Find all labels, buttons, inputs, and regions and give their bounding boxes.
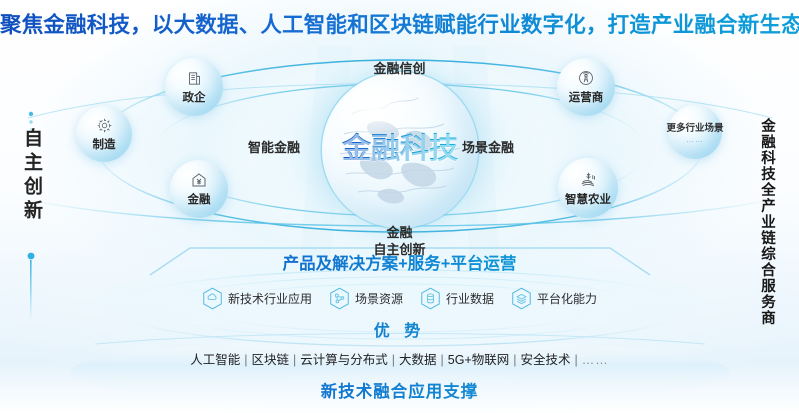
- center-label-top: 金融信创: [0, 58, 799, 77]
- tech-item: 云计算与分布式: [300, 353, 388, 367]
- bubble-more-industries[interactable]: 更多行业场景 ……: [668, 105, 722, 159]
- bubble-label: 运营商: [569, 89, 604, 105]
- advantage-label: 平台化能力: [537, 290, 597, 307]
- separator: |: [437, 353, 448, 367]
- bubble-telecom-operator[interactable]: 运营商: [557, 58, 615, 116]
- separator: |: [240, 353, 251, 367]
- tech-stack-list: 人工智能|区块链|云计算与分布式|大数据|5G+物联网|安全技术|……: [0, 349, 799, 368]
- left-vertical-label: 自主创新: [18, 128, 45, 224]
- bubble-label: 更多行业场景: [667, 123, 724, 134]
- advantage-item[interactable]: 行业数据: [420, 287, 494, 310]
- advantage-label: 场景资源: [355, 290, 403, 307]
- separator: |: [571, 353, 582, 367]
- tech-item: 区块链: [251, 353, 289, 367]
- smart-agriculture-icon: [579, 170, 598, 189]
- bubble-smart-agriculture[interactable]: 智慧农业: [558, 158, 618, 218]
- offering-banner: 产品及解决方案+服务+平台运营: [0, 250, 799, 274]
- signal-tower-icon: [577, 69, 595, 87]
- database-icon: [420, 287, 441, 310]
- center-label-left: 智能金融: [248, 137, 300, 156]
- gear-icon: [96, 117, 113, 134]
- cloud-icon: [202, 287, 223, 310]
- bubble-label: 智慧农业: [565, 191, 611, 207]
- bubble-label: 金融: [188, 191, 211, 207]
- advantage-item[interactable]: 场景资源: [329, 287, 403, 310]
- bubble-ellipsis: ……: [686, 135, 704, 144]
- building-icon: [186, 70, 203, 87]
- advantage-label: 行业数据: [446, 290, 494, 307]
- separator: |: [388, 353, 399, 367]
- center-keyword: 金融科技: [318, 125, 482, 167]
- advantages-row: 新技术行业应用 场景资源: [0, 287, 799, 310]
- bubble-manufacturing[interactable]: 制造: [76, 106, 132, 162]
- infographic-canvas: 聚焦金融科技，以大数据、人工智能和区块链赋能行业数字化，打造产业融合新生态 自主…: [0, 0, 799, 413]
- bank-yen-icon: [190, 171, 208, 189]
- bubble-government-enterprise[interactable]: 政企: [165, 58, 223, 116]
- bubble-label: 制造: [93, 136, 116, 152]
- layers-icon: [511, 287, 532, 310]
- advantages-title: 优 势: [0, 317, 799, 341]
- tech-support-title: 新技术融合应用支撑: [0, 378, 799, 402]
- separator: |: [289, 353, 300, 367]
- tech-ellipsis: ……: [582, 353, 609, 367]
- center-label-right: 场景金融: [462, 137, 514, 156]
- bubble-label: 政企: [183, 89, 206, 105]
- separator: |: [509, 353, 520, 367]
- tech-item: 5G+物联网: [448, 353, 509, 367]
- tech-item: 大数据: [399, 353, 437, 367]
- advantage-label: 新技术行业应用: [228, 290, 312, 307]
- page-title: 聚焦金融科技，以大数据、人工智能和区块链赋能行业数字化，打造产业融合新生态: [0, 8, 799, 39]
- advantage-item[interactable]: 平台化能力: [511, 287, 597, 310]
- network-nodes-icon: [329, 287, 350, 310]
- bubble-finance[interactable]: 金融: [170, 160, 228, 218]
- tech-item: 安全技术: [521, 353, 571, 367]
- tech-item: 人工智能: [190, 353, 240, 367]
- advantage-item[interactable]: 新技术行业应用: [202, 287, 312, 310]
